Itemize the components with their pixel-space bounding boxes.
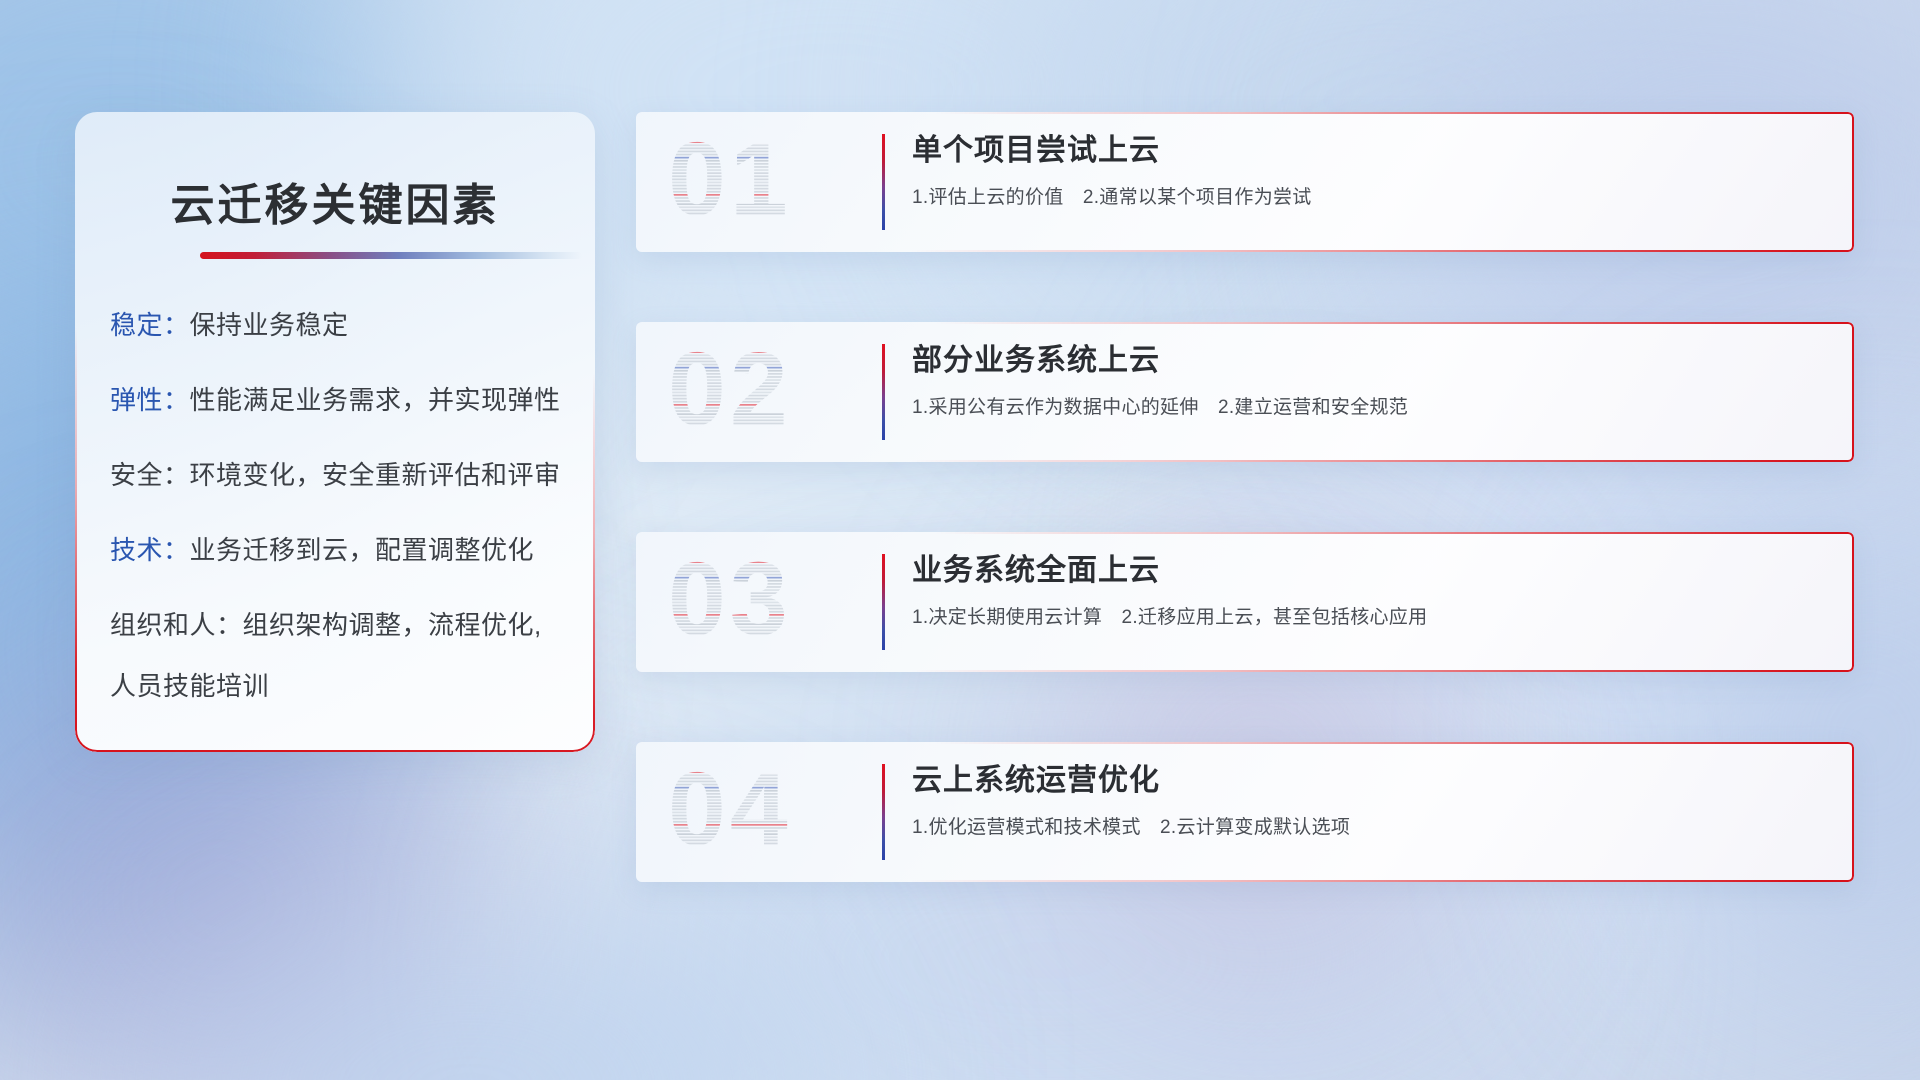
stage-card[interactable]: 03业务系统全面上云1.决定长期使用云计算 2.迁移应用上云，甚至包括核心应用 [636, 532, 1854, 672]
stage-card-title: 部分业务系统上云 [912, 342, 1824, 380]
stage-card-body: 部分业务系统上云1.采用公有云作为数据中心的延伸 2.建立运营和安全规范 [912, 342, 1824, 419]
key-factor-row: 弹性：性能满足业务需求，并实现弹性 [110, 387, 571, 413]
key-factor-label: 弹性： [110, 385, 190, 415]
key-factor-text: 业务迁移到云，配置调整优化 [190, 535, 535, 565]
key-factor-row: 组织和人：组织架构调整，流程优化, [110, 612, 571, 638]
key-factor-row: 安全：环境变化，安全重新评估和评审 [110, 462, 571, 488]
panel-title: 云迁移关键因素 [75, 169, 595, 233]
key-factor-label: 安全： [110, 460, 190, 490]
stage-card[interactable]: 01单个项目尝试上云1.评估上云的价值 2.通常以某个项目作为尝试 [636, 112, 1854, 252]
key-factors-panel: 云迁移关键因素 稳定：保持业务稳定弹性：性能满足业务需求，并实现弹性安全：环境变… [75, 112, 595, 752]
key-factor-label: 组织和人： [110, 610, 243, 640]
stage-card[interactable]: 02部分业务系统上云1.采用公有云作为数据中心的延伸 2.建立运营和安全规范 [636, 322, 1854, 462]
stage-divider-bar [882, 344, 885, 440]
title-underline-rule [200, 252, 582, 259]
stage-card-title: 业务系统全面上云 [912, 552, 1824, 590]
stage-card-body: 云上系统运营优化1.优化运营模式和技术模式 2.云计算变成默认选项 [912, 762, 1824, 839]
key-factors-list: 稳定：保持业务稳定弹性：性能满足业务需求，并实现弹性安全：环境变化，安全重新评估… [110, 312, 571, 699]
stage-card-body: 单个项目尝试上云1.评估上云的价值 2.通常以某个项目作为尝试 [912, 132, 1824, 209]
key-factor-row: 技术：业务迁移到云，配置调整优化 [110, 537, 571, 563]
stage-card-subtitle: 1.评估上云的价值 2.通常以某个项目作为尝试 [912, 182, 1824, 209]
stage-number-glyph: 02 [668, 338, 878, 446]
stage-number-glyph: 04 [668, 758, 878, 866]
stage-number-glyph: 01 [668, 128, 878, 236]
key-factor-row: 人员技能培训 [110, 673, 571, 699]
stage-divider-bar [882, 134, 885, 230]
stage-card[interactable]: 04云上系统运营优化1.优化运营模式和技术模式 2.云计算变成默认选项 [636, 742, 1854, 882]
key-factor-row: 稳定：保持业务稳定 [110, 312, 571, 338]
key-factor-text: 组织架构调整，流程优化, [243, 610, 542, 640]
stage-card-body: 业务系统全面上云1.决定长期使用云计算 2.迁移应用上云，甚至包括核心应用 [912, 552, 1824, 629]
stage-divider-bar [882, 764, 885, 860]
key-factor-text: 性能满足业务需求，并实现弹性 [190, 385, 561, 415]
stage-card-title: 单个项目尝试上云 [912, 132, 1824, 170]
stage-card-subtitle: 1.采用公有云作为数据中心的延伸 2.建立运营和安全规范 [912, 392, 1824, 419]
key-factor-label: 稳定： [110, 310, 190, 340]
stage-card-list: 01单个项目尝试上云1.评估上云的价值 2.通常以某个项目作为尝试02部分业务系… [636, 112, 1854, 882]
stage-card-subtitle: 1.优化运营模式和技术模式 2.云计算变成默认选项 [912, 812, 1824, 839]
key-factor-label: 技术： [110, 535, 190, 565]
key-factor-text: 保持业务稳定 [190, 310, 349, 340]
key-factor-text: 人员技能培训 [110, 671, 269, 701]
stage-card-title: 云上系统运营优化 [912, 762, 1824, 800]
stage-card-subtitle: 1.决定长期使用云计算 2.迁移应用上云，甚至包括核心应用 [912, 602, 1824, 629]
stage-number-glyph: 03 [668, 548, 878, 656]
key-factor-text: 环境变化，安全重新评估和评审 [190, 460, 561, 490]
stage-divider-bar [882, 554, 885, 650]
